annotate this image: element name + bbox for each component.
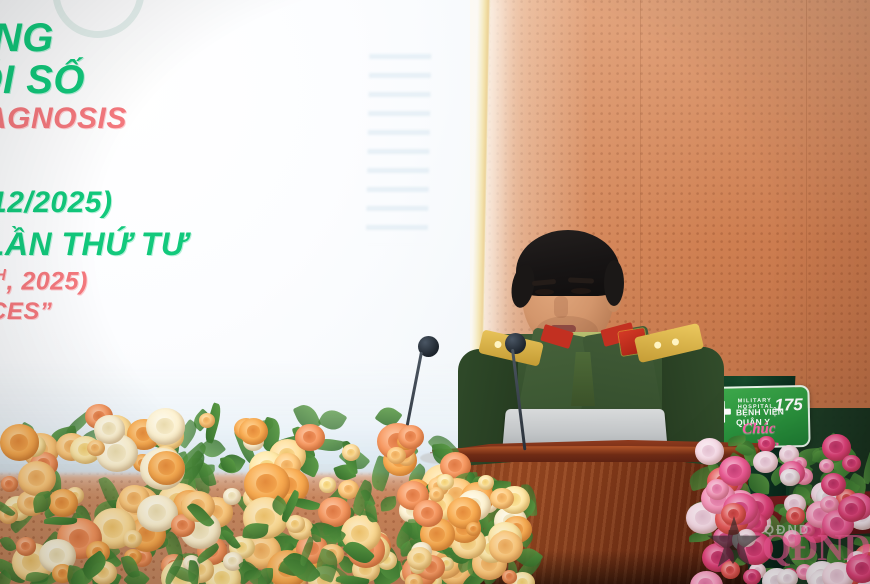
watermark-text: QĐND <box>762 526 870 570</box>
microphone-right <box>505 333 526 354</box>
flower-center <box>441 479 449 486</box>
flower-center <box>326 505 341 519</box>
speaker-hair-side <box>604 260 624 306</box>
flower-center <box>55 497 68 510</box>
slide-line-3: DIAGNOSIS <box>0 104 127 134</box>
flower-center <box>107 444 126 461</box>
flower-center <box>825 500 834 508</box>
foliage-leaf <box>380 496 398 512</box>
flower-center <box>128 534 137 542</box>
slide-line-5: 0/12/2025) <box>0 188 112 218</box>
foliage-leaf <box>748 474 770 495</box>
flower-center <box>156 418 174 435</box>
flower-center <box>247 425 260 437</box>
sign-number: 175 <box>774 395 803 416</box>
eye-left <box>535 289 554 295</box>
flower-center <box>10 434 28 451</box>
flower-center <box>58 569 67 578</box>
flower-bouquet-center <box>400 470 530 584</box>
flower-center <box>506 573 513 579</box>
flower-center <box>413 553 424 564</box>
flower-center <box>498 539 513 553</box>
flower-center <box>253 543 270 559</box>
photo-stage: ƯỢNG ĐỔI SỐ DIAGNOSIS N 0/12/2025) I LẦN… <box>0 0 870 584</box>
flower-center <box>228 492 236 500</box>
flower-center <box>847 459 856 467</box>
flower-center <box>203 417 210 424</box>
slide-line-8: ORCES” <box>0 300 52 324</box>
slide-line-7: 20TH, 2025) <box>0 268 88 294</box>
flower-center <box>727 464 742 478</box>
flower-center <box>823 463 830 469</box>
flower-center <box>470 526 477 533</box>
flower-center <box>214 571 230 584</box>
flower-center <box>158 459 175 475</box>
flower-center <box>347 449 355 457</box>
microphone-left <box>418 336 439 357</box>
flower-center <box>429 527 445 542</box>
slide-line-2: ĐỔI SỐ <box>0 60 85 100</box>
flower-center <box>829 441 842 453</box>
flower-center <box>410 579 418 584</box>
flower-center <box>103 519 123 538</box>
flower-center <box>256 474 277 493</box>
flower-center <box>760 457 771 467</box>
slide-line-7-tail: , 2025) <box>6 267 87 295</box>
slide-line-1: ƯỢNG <box>0 18 54 58</box>
eye-right <box>571 288 591 294</box>
flower-center <box>28 470 45 486</box>
publisher-watermark: QĐND QĐND <box>700 512 870 576</box>
flower-center <box>433 491 440 498</box>
flower-center <box>712 484 722 494</box>
flower-center <box>5 480 13 487</box>
flower-center <box>698 578 713 584</box>
flower-center <box>127 492 141 505</box>
flower-center <box>517 578 528 584</box>
flower-center <box>406 489 420 502</box>
flower-center <box>405 431 417 442</box>
slide-line-6: I LẦN THỨ TƯ <box>0 228 187 260</box>
flower-center <box>323 481 331 488</box>
microphone-head <box>505 333 526 354</box>
nose <box>554 296 568 318</box>
